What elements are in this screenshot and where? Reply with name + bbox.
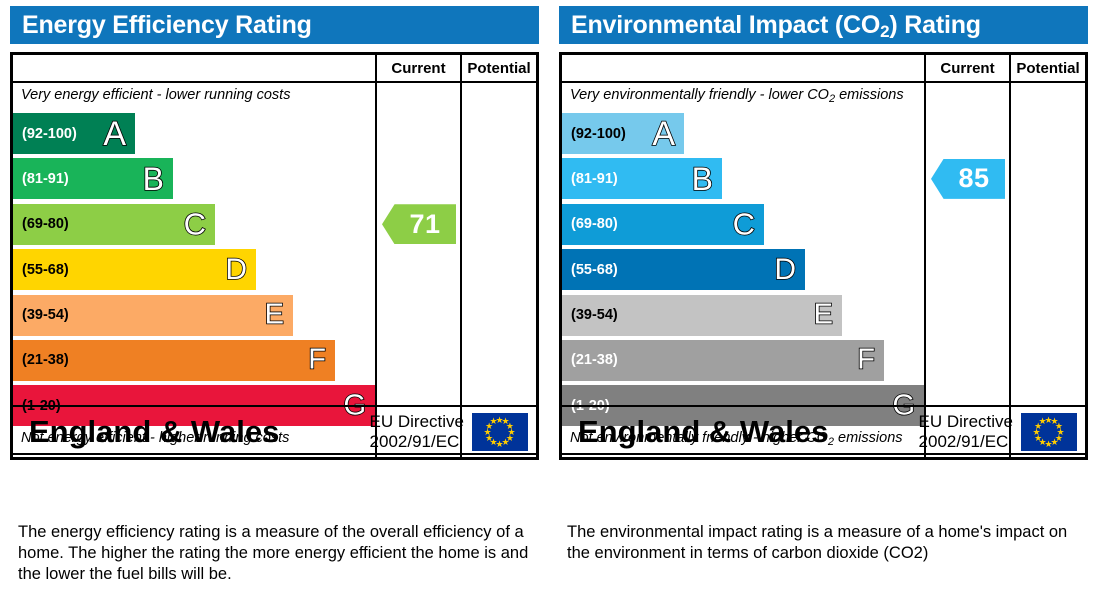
- band-range-label: (92-100): [571, 126, 626, 142]
- band-letter-c: C: [184, 209, 206, 240]
- band-letter-a: A: [103, 117, 126, 151]
- band-letter-e: E: [814, 301, 833, 330]
- region-label: England & Wales: [29, 414, 279, 450]
- band-letter-c: C: [733, 209, 755, 240]
- epc-rating-charts: Energy Efficiency RatingCurrentPotential…: [0, 0, 1098, 613]
- rating-bars: (92-100)A(81-91)B(69-80)C(55-68)D(39-54)…: [13, 111, 375, 429]
- eu-directive-line2: 2002/91/EC: [919, 432, 1013, 452]
- eu-directive-text: EU Directive2002/91/EC: [919, 412, 1013, 452]
- caption-text: Very environmentally friendly - lower CO: [570, 87, 829, 103]
- column-divider-potential: [1009, 55, 1011, 457]
- eu-directive-block: EU Directive2002/91/EC★★★★★★★★★★★★: [370, 412, 528, 452]
- band-letter-e: E: [265, 301, 284, 330]
- current-rating-value: 71: [409, 209, 440, 240]
- caption-text: Very energy efficient - lower running co…: [21, 87, 290, 103]
- band-letter-f: F: [857, 346, 875, 375]
- caption-top: Very environmentally friendly - lower CO…: [570, 87, 904, 103]
- eu-flag-star: ★: [1039, 417, 1047, 426]
- chart-footer: England & WalesEU Directive2002/91/EC★★★…: [13, 405, 536, 457]
- chart-footer: England & WalesEU Directive2002/91/EC★★★…: [562, 405, 1085, 457]
- caption-top: Very energy efficient - lower running co…: [21, 87, 290, 103]
- eu-directive-line1: EU Directive: [919, 412, 1013, 432]
- rating-bar-c: (69-80)C: [13, 204, 215, 245]
- rating-bar-e: (39-54)E: [13, 295, 293, 336]
- rating-band-row: (69-80)C: [13, 202, 375, 247]
- band-range-label: (55-68): [22, 262, 69, 278]
- chart-title-text: Environmental Impact (CO: [571, 11, 880, 39]
- band-range-label: (21-38): [571, 352, 618, 368]
- eu-directive-line2: 2002/91/EC: [370, 432, 464, 452]
- rating-band-row: (92-100)A: [13, 111, 375, 156]
- rating-band-row: (55-68)D: [13, 247, 375, 292]
- eu-directive-block: EU Directive2002/91/EC★★★★★★★★★★★★: [919, 412, 1077, 452]
- column-header-current: Current: [377, 55, 460, 83]
- current-rating-value: 85: [958, 163, 989, 194]
- band-range-label: (81-91): [571, 171, 618, 187]
- rating-bar-b: (81-91)B: [562, 158, 722, 199]
- band-letter-f: F: [308, 346, 326, 375]
- chart-title-suffix: ) Rating: [889, 11, 980, 39]
- column-divider-potential: [460, 55, 462, 457]
- rating-bar-a: (92-100)A: [13, 113, 135, 154]
- rating-bar-f: (21-38)F: [13, 340, 335, 381]
- chart-frame-energy-efficiency: CurrentPotentialVery energy efficient - …: [10, 52, 539, 460]
- eu-flag-star: ★: [490, 417, 498, 426]
- rating-band-row: (81-91)B: [13, 156, 375, 201]
- rating-bar-d: (55-68)D: [562, 249, 805, 290]
- band-letter-d: D: [774, 255, 796, 285]
- eu-flag-icon: ★★★★★★★★★★★★: [1021, 413, 1077, 451]
- rating-band-row: (81-91)B: [562, 156, 924, 201]
- band-range-label: (55-68): [571, 262, 618, 278]
- band-range-label: (69-80): [22, 216, 69, 232]
- band-range-label: (21-38): [22, 352, 69, 368]
- column-divider-current: [924, 55, 926, 457]
- chart-panel-environmental-impact: Environmental Impact (CO2) RatingCurrent…: [549, 0, 1098, 613]
- rating-band-row: (21-38)F: [13, 338, 375, 383]
- rating-band-row: (39-54)E: [562, 293, 924, 338]
- column-header-potential: Potential: [1011, 55, 1085, 83]
- chart-description-energy-efficiency: The energy efficiency rating is a measur…: [18, 522, 538, 585]
- rating-bar-f: (21-38)F: [562, 340, 884, 381]
- column-divider-current: [375, 55, 377, 457]
- eu-flag-icon: ★★★★★★★★★★★★: [472, 413, 528, 451]
- column-header-current: Current: [926, 55, 1009, 83]
- rating-band-row: (69-80)C: [562, 202, 924, 247]
- band-range-label: (69-80): [571, 216, 618, 232]
- band-range-label: (39-54): [571, 307, 618, 323]
- rating-band-row: (21-38)F: [562, 338, 924, 383]
- rating-bar-b: (81-91)B: [13, 158, 173, 199]
- rating-bars: (92-100)A(81-91)B(69-80)C(55-68)D(39-54)…: [562, 111, 924, 429]
- chart-title-text: Energy Efficiency Rating: [22, 11, 312, 39]
- chart-title-subscript: 2: [880, 22, 889, 41]
- chart-title-energy-efficiency: Energy Efficiency Rating: [10, 6, 539, 44]
- band-letter-b: B: [143, 163, 164, 195]
- caption-suffix: emissions: [835, 87, 904, 103]
- band-range-label: (81-91): [22, 171, 69, 187]
- band-letter-d: D: [225, 255, 247, 285]
- chart-description-environmental-impact: The environmental impact rating is a mea…: [567, 522, 1087, 564]
- band-letter-b: B: [692, 163, 713, 195]
- region-label: England & Wales: [578, 414, 828, 450]
- column-header-potential: Potential: [462, 55, 536, 83]
- rating-band-row: (55-68)D: [562, 247, 924, 292]
- rating-band-row: (92-100)A: [562, 111, 924, 156]
- current-rating-arrow: 85: [931, 159, 1005, 199]
- chart-panel-energy-efficiency: Energy Efficiency RatingCurrentPotential…: [0, 0, 549, 613]
- band-letter-a: A: [652, 117, 675, 151]
- eu-directive-text: EU Directive2002/91/EC: [370, 412, 464, 452]
- rating-bar-a: (92-100)A: [562, 113, 684, 154]
- rating-band-row: (39-54)E: [13, 293, 375, 338]
- eu-directive-line1: EU Directive: [370, 412, 464, 432]
- rating-bar-e: (39-54)E: [562, 295, 842, 336]
- caption-subscript: 2: [829, 93, 835, 105]
- chart-frame-environmental-impact: CurrentPotentialVery environmentally fri…: [559, 52, 1088, 460]
- band-range-label: (39-54): [22, 307, 69, 323]
- band-range-label: (92-100): [22, 126, 77, 142]
- chart-title-environmental-impact: Environmental Impact (CO2) Rating: [559, 6, 1088, 44]
- current-rating-arrow: 71: [382, 204, 456, 244]
- rating-bar-c: (69-80)C: [562, 204, 764, 245]
- rating-bar-d: (55-68)D: [13, 249, 256, 290]
